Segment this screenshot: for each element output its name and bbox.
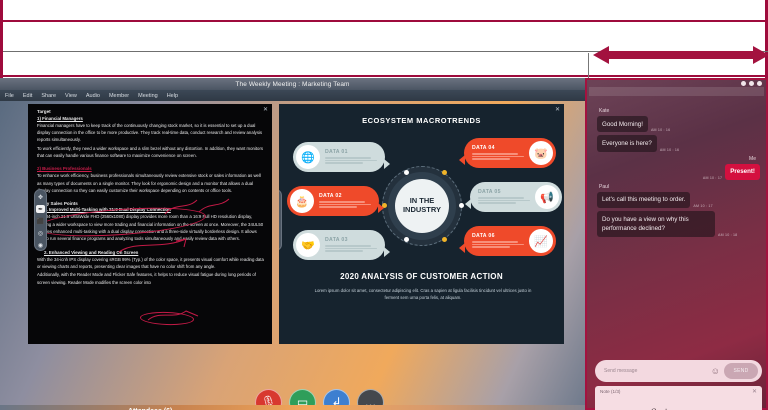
doc-section-1-title: 1) Financial Managers (37, 116, 264, 121)
annotation-toolbar-right[interactable]: ✥ ✒ ⬛ ◎ ◉ (279, 189, 282, 251)
shared-infographic-slide[interactable]: ✕ ECOSYSTEM MACROTRENDS IN THE INDUSTRY … (279, 104, 564, 344)
infographic-item-data-04[interactable]: DATA 04 🐷 (464, 138, 556, 168)
eraser-tool-icon[interactable]: ⬛ (36, 217, 45, 225)
doc-section-1-body-1: Financial managers have to keep track of… (37, 122, 264, 144)
doc-point-2-body: With the 34-icnh IPS display covering sR… (37, 256, 264, 271)
chat-bubble: Everyone is here? (597, 135, 657, 151)
maximize-button[interactable] (749, 81, 754, 86)
chat-sender-kate: Kate (599, 108, 760, 114)
settings-tool-icon[interactable]: ◎ (36, 230, 45, 238)
handshake-icon: 🤝 (296, 233, 320, 257)
ink-annotation-ellipse-2 (140, 311, 194, 326)
data-01-label: DATA 01 (325, 149, 377, 155)
chat-message-row: Good Morning! AM 10 : 16 (597, 116, 760, 132)
chat-bubble: Let's call this meeting to order. (597, 192, 690, 208)
window-titlebar: The Weekly Meeting : Marketing Team (0, 78, 585, 90)
infographic-title: ECOSYSTEM MACROTRENDS (279, 116, 564, 125)
annotation-tick (588, 53, 589, 78)
infographic-subtitle: 2020 ANALYSIS OF CUSTOMER ACTION (279, 272, 564, 281)
chat-message-row: Let's call this meeting to order. AM 10 … (597, 192, 760, 208)
note-page-indicator: Note (1/3) (600, 389, 620, 394)
menu-item-meeting[interactable]: Meeting (138, 93, 158, 99)
infographic-item-data-05[interactable]: DATA 05 📢 (470, 182, 562, 212)
ink-annotation-scribble-2 (146, 308, 202, 324)
hub-center-label: IN THE INDUSTRY (395, 179, 449, 233)
chat-input-placeholder[interactable]: Send message (604, 368, 707, 374)
menu-item-share[interactable]: Share (41, 93, 56, 99)
hub-line-2: INDUSTRY (403, 206, 441, 215)
menu-item-member[interactable]: Member (109, 93, 129, 99)
span-arrow-double-icon (593, 44, 768, 66)
close-icon[interactable]: ✕ (263, 106, 268, 113)
hub-node-top-left (404, 170, 409, 175)
doc-section-1-body-2: To work efficiently, they need a wider w… (37, 145, 264, 160)
chat-toolbar (589, 87, 764, 96)
chat-message-row: AM 10 : 17 Present! (597, 164, 760, 180)
pen-tool-icon[interactable]: ✒ (36, 205, 45, 213)
doc-point-2-body-2: Additionally, with the Reader Mode and F… (37, 271, 264, 286)
eraser-tool-icon[interactable]: ⬛ (279, 217, 280, 225)
chat-bubble: Do you have a view on why this performan… (597, 211, 715, 237)
move-tool-icon[interactable]: ✥ (36, 193, 45, 201)
menu-bar: File Edit Share View Audio Member Meetin… (0, 90, 585, 101)
chat-sender-paul: Paul (599, 184, 760, 190)
globe-icon: 🌐 (296, 145, 320, 169)
doc-point-2-title: 2. Enhanced Viewing and Reading On Scree… (44, 250, 264, 255)
meeting-app-window: The Weekly Meeting : Marketing Team File… (0, 78, 585, 410)
doc-section-2-body: To enhance work efficiency, business pro… (37, 172, 264, 194)
chat-window-controls[interactable] (741, 81, 762, 86)
growth-chart-icon: 📈 (529, 229, 553, 253)
minimize-button[interactable] (741, 81, 746, 86)
chat-window: Kate Good Morning! AM 10 : 16 Everyone i… (585, 78, 768, 410)
chat-timestamp: AM 10 : 17 (693, 204, 712, 208)
cake-icon: 🎂 (290, 189, 314, 213)
annotation-toolbar-left[interactable]: ✥ ✒ ⬛ ◎ ◉ (34, 189, 47, 251)
infographic-item-data-03[interactable]: 🤝 DATA 03 (293, 230, 385, 260)
chat-bubble: Good Morning! (597, 116, 648, 132)
chat-sender-me: Me (599, 156, 756, 162)
shared-document-slide[interactable]: ✕ Target 1) Financial Managers Financial… (28, 104, 272, 344)
color-tool-icon[interactable]: ◉ (36, 242, 45, 250)
menu-item-audio[interactable]: Audio (86, 93, 100, 99)
data-06-label: DATA 06 (472, 233, 524, 239)
color-tool-icon[interactable]: ◉ (279, 242, 280, 250)
move-tool-icon[interactable]: ✥ (279, 193, 280, 201)
infographic-body-text: Lorem ipsum dolor sit amet, consectetur … (309, 288, 537, 302)
doc-key-points-title: 3 Key Sales Points (37, 201, 264, 206)
infographic-item-data-02[interactable]: 🎂 DATA 02 (287, 186, 379, 216)
megaphone-icon: 📢 (535, 185, 559, 209)
piggy-bank-icon: 🐷 (529, 141, 553, 165)
doc-point-1-title: 1. Improved Multi-Tasking with 21:9 Dual… (44, 207, 264, 212)
doc-heading: Target (37, 109, 264, 114)
chat-message-list[interactable]: Kate Good Morning! AM 10 : 16 Everyone i… (593, 100, 764, 270)
hub-node-right (459, 203, 464, 208)
handwritten-note-panel[interactable]: Note (1/3) ✕ Customers Society Governmen… (595, 386, 762, 410)
window-title: The Weekly Meeting : Marketing Team (235, 81, 349, 88)
close-button[interactable] (757, 81, 762, 86)
chat-message-row: Do you have a view on why this performan… (597, 211, 760, 237)
shared-slides-area: ✕ Target 1) Financial Managers Financial… (0, 101, 585, 405)
document-text-body: Target 1) Financial Managers Financial m… (28, 104, 272, 286)
infographic-item-data-01[interactable]: 🌐 DATA 01 (293, 142, 385, 172)
menu-item-file[interactable]: File (5, 93, 14, 99)
infographic-item-data-06[interactable]: DATA 06 📈 (464, 226, 556, 256)
chat-timestamp: AM 10 : 16 (660, 148, 679, 152)
pen-tool-icon[interactable]: ✒ (279, 205, 280, 213)
hub-node-bottom-left (404, 237, 409, 242)
settings-tool-icon[interactable]: ◎ (279, 230, 280, 238)
chat-bubble-own: Present! (725, 164, 760, 180)
annotation-band (0, 0, 768, 78)
smiley-icon[interactable]: ☺ (711, 366, 720, 376)
close-icon[interactable]: ✕ (555, 106, 560, 113)
menu-item-edit[interactable]: Edit (23, 93, 32, 99)
chat-message-row: Everyone is here? AM 10 : 16 (597, 135, 760, 151)
data-03-label: DATA 03 (325, 237, 377, 243)
hub-node-top-right (442, 170, 447, 175)
data-04-label: DATA 04 (472, 145, 524, 151)
chat-compose-bar[interactable]: Send message ☺ SEND (595, 360, 762, 382)
annotation-rule-top (3, 20, 768, 22)
annotation-rule-bottom (3, 75, 768, 77)
hub-node-bottom-right (442, 237, 447, 242)
data-02-label: DATA 02 (319, 193, 371, 199)
menu-item-view[interactable]: View (65, 93, 77, 99)
close-icon[interactable]: ✕ (752, 388, 757, 395)
data-05-label: DATA 05 (478, 189, 530, 195)
doc-point-1-body: The 34-inch 21:9 UltraWide FHD (2560x108… (37, 213, 264, 243)
chat-timestamp: AM 10 : 16 (651, 128, 670, 132)
menu-item-help[interactable]: Help (167, 93, 178, 99)
chat-timestamp: AM 10 : 18 (718, 233, 737, 237)
doc-section-2-title: 2) Business Professionals (37, 166, 264, 171)
chat-timestamp: AM 10 : 17 (703, 176, 722, 180)
chat-send-button[interactable]: SEND (724, 363, 758, 379)
attendees-strip: Attendees (6) ⚙ Me / connected ✋ Kate (0, 405, 585, 410)
